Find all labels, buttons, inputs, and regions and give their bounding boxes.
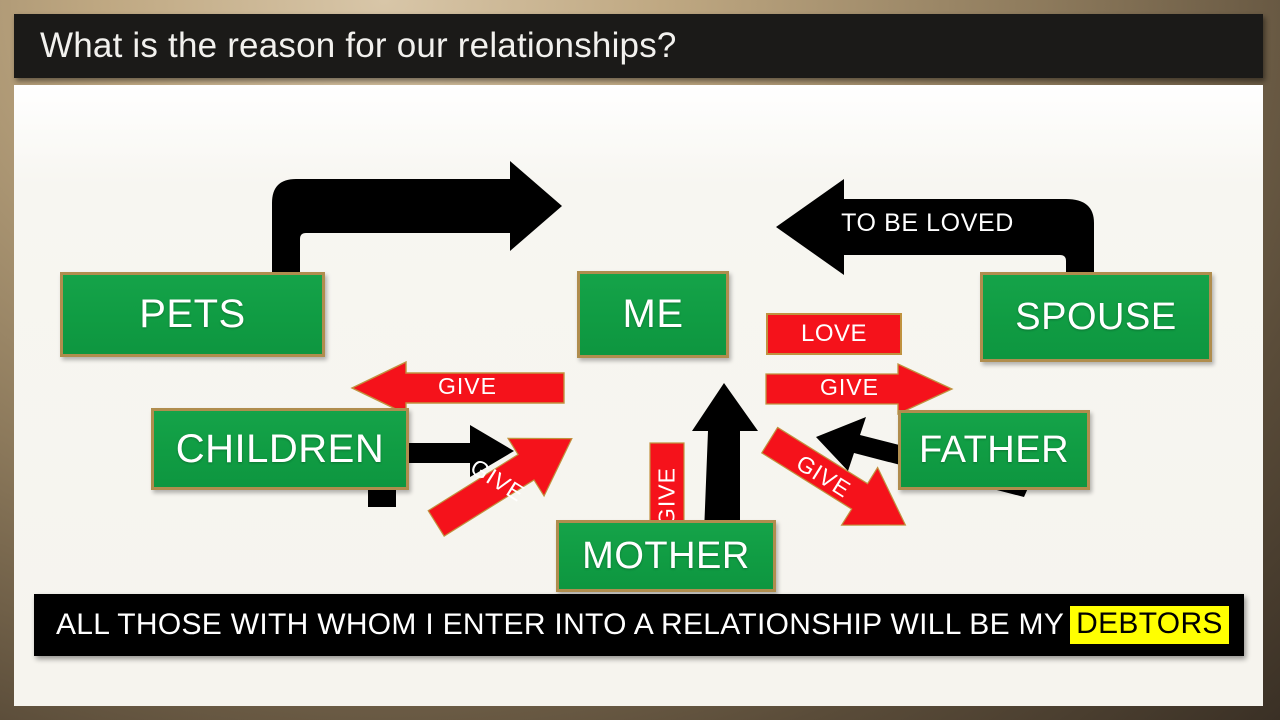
slide: What is the reason for our relationships… <box>14 14 1266 706</box>
footer-text: ALL THOSE WITH WHOM I ENTER INTO A RELAT… <box>56 608 1064 642</box>
plate-to-be-loved: TO BE LOVED <box>825 201 1030 245</box>
node-mother[interactable]: MOTHER <box>556 520 776 592</box>
footer-highlight-debtors: DEBTORS <box>1070 606 1229 644</box>
page-title: What is the reason for our relationships… <box>40 26 677 66</box>
arrow-red-give-spouse: GIVE <box>764 364 954 414</box>
node-pets[interactable]: PETS <box>60 272 325 357</box>
node-me[interactable]: ME <box>577 271 729 358</box>
node-children[interactable]: CHILDREN <box>151 408 409 490</box>
node-spouse[interactable]: SPOUSE <box>980 272 1212 362</box>
arrow-red-give-children: GIVE <box>422 433 586 529</box>
slide-title-bar: What is the reason for our relationships… <box>14 14 1263 78</box>
footer-banner: ALL THOSE WITH WHOM I ENTER INTO A RELAT… <box>34 594 1244 656</box>
arrow-black-pets-to-me <box>266 159 566 279</box>
node-father[interactable]: FATHER <box>898 410 1090 490</box>
diagram-canvas: GIVE GIVE GIVE <box>14 85 1263 706</box>
plate-love: LOVE <box>766 313 902 355</box>
